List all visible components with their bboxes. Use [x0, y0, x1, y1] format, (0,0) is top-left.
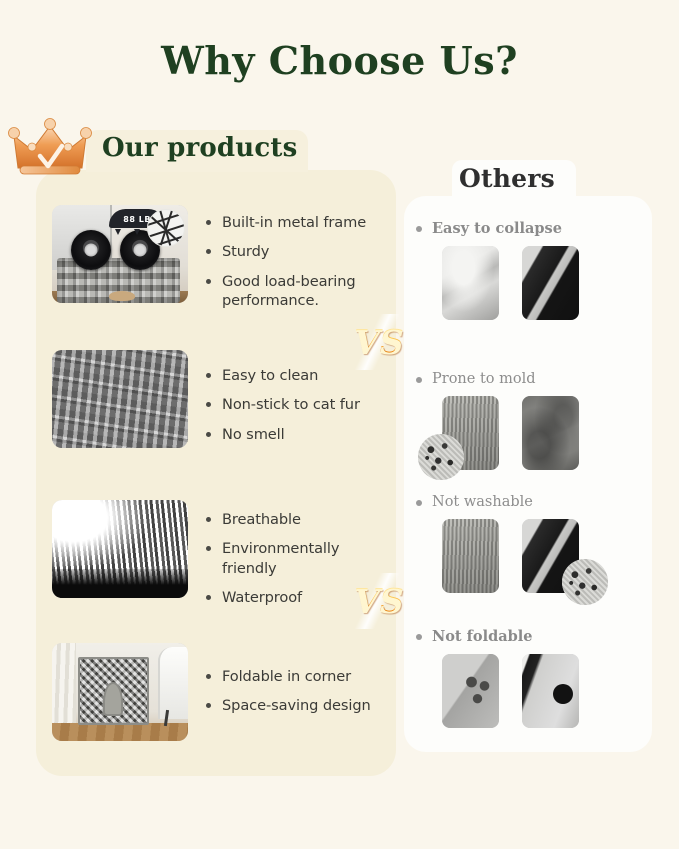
- others-row: Not washable: [404, 494, 652, 595]
- list-item: Foldable in corner: [204, 667, 394, 686]
- collapsed-light-fabric-photo: [442, 246, 499, 320]
- page-title: Why Choose Us?: [0, 38, 679, 83]
- mold-spots-closeup: [418, 434, 464, 480]
- others-label: Others: [459, 164, 555, 193]
- list-item: Environmentally friendly: [204, 539, 394, 578]
- metal-litter-box-photo: [522, 654, 579, 728]
- stained-striped-fabric-photo: [442, 519, 499, 593]
- others-row-label: Not foldable: [404, 628, 652, 645]
- vs-badge: VS: [350, 573, 408, 629]
- others-row-label: Easy to collapse: [404, 220, 652, 237]
- others-row-images: [404, 246, 652, 322]
- others-row-images: [404, 396, 652, 472]
- woven-weave-closeup-photo: [52, 350, 188, 448]
- dirt-spots-closeup: [562, 559, 608, 605]
- list-item: Sturdy: [204, 242, 394, 261]
- moldy-gray-surface-photo: [522, 396, 579, 470]
- others-row-images: [404, 654, 652, 730]
- list-item: No smell: [204, 425, 394, 444]
- folded-litter-enclosure-in-room-photo: [52, 643, 188, 741]
- others-row: Not foldable: [404, 628, 652, 730]
- others-row-label: Not washable: [404, 494, 652, 510]
- product-feature-list: Foldable in corner Space-saving design: [204, 667, 394, 716]
- vs-badge: VS: [350, 314, 408, 370]
- product-feature-list: Easy to clean Non-stick to cat fur No sm…: [204, 366, 394, 444]
- list-item: Space-saving design: [204, 696, 394, 715]
- others-row-images: [404, 519, 652, 595]
- crown-check-icon: [8, 118, 92, 178]
- metal-frame-closeup-inset: [147, 209, 185, 247]
- others-row: Easy to collapse: [404, 220, 652, 322]
- others-row: Prone to mold: [404, 371, 652, 472]
- list-item: Breathable: [204, 510, 394, 529]
- others-row-label: Prone to mold: [404, 371, 652, 387]
- product-feature-list: Built-in metal frame Sturdy Good load-be…: [204, 213, 394, 310]
- list-item: Non-stick to cat fur: [204, 395, 394, 414]
- basket-with-weight-plates-photo: 88 LB: [52, 205, 188, 303]
- collapsed-black-fabric-photo: [522, 246, 579, 320]
- our-products-label: Our products: [102, 133, 297, 163]
- list-item: Built-in metal frame: [204, 213, 394, 232]
- list-item: Good load-bearing performance.: [204, 272, 394, 311]
- breathable-woven-wall-photo: [52, 500, 188, 598]
- gray-rigid-box-photo: [442, 654, 499, 728]
